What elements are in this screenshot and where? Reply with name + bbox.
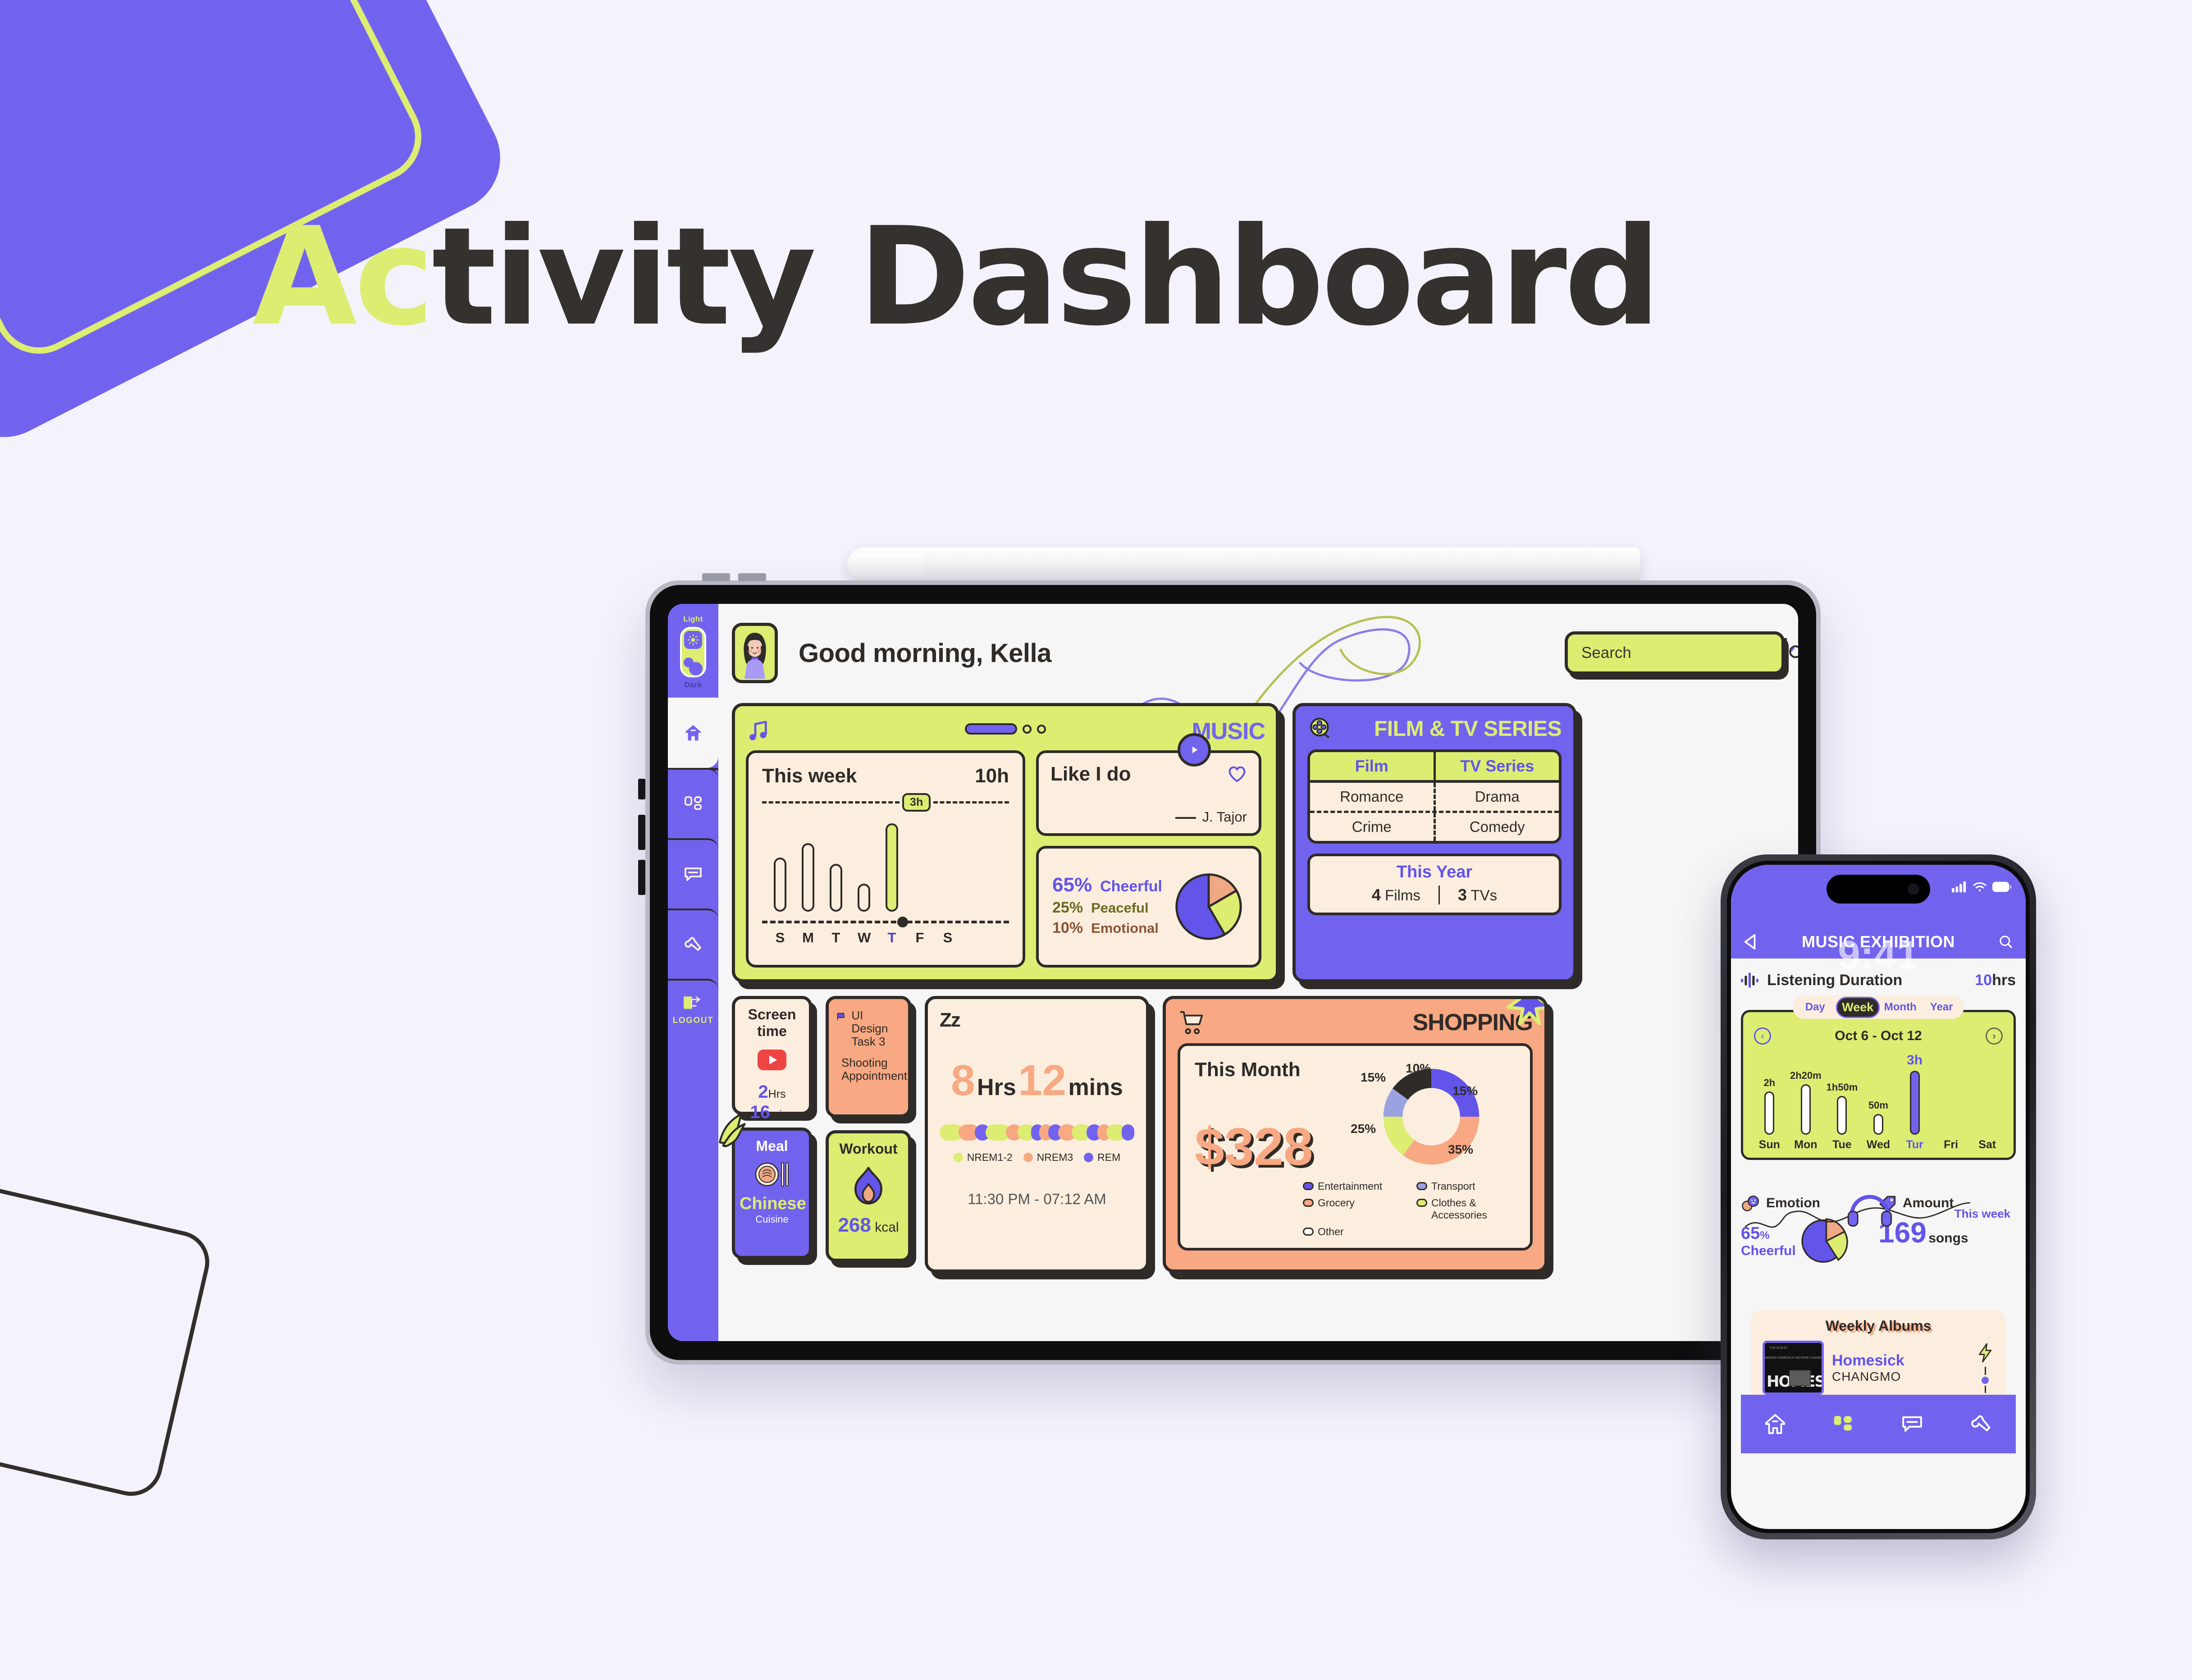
album-cover: THE ALBUM CHANGMO HOMESICK MIXTAPE CHANG… xyxy=(1763,1341,1824,1395)
day-label: Tue xyxy=(1828,1138,1856,1151)
table-row: Romance Drama xyxy=(1310,783,1559,811)
list-item[interactable]: Shooting Appointment xyxy=(836,1056,901,1082)
album-info: Homesick CHANGMO xyxy=(1832,1352,1904,1384)
emotion-pie-chart xyxy=(1172,868,1245,945)
dashboard-row-1: MUSIC This week 10h 3h xyxy=(732,703,1785,982)
mini-col-2: UI Design Task 3 Shooting Appointment xyxy=(826,996,911,1273)
weekly-albums-title: Weekly Albums xyxy=(1751,1318,2006,1334)
genre-col-film[interactable]: Film xyxy=(1310,752,1436,780)
sidebar-item-logout[interactable]: LOGOUT xyxy=(668,979,718,1049)
weekly-bars xyxy=(774,817,1009,912)
task-text: UI Design Task 3 xyxy=(851,1009,901,1048)
music-pager[interactable] xyxy=(965,723,1046,735)
weekly-day-labels: S M T W T F S xyxy=(774,930,1009,946)
sidebar-nav: LOGOUT xyxy=(668,698,718,1049)
pager-dot-2[interactable] xyxy=(1037,725,1046,734)
bar-thu xyxy=(886,823,898,912)
day-label: W xyxy=(858,930,870,946)
films-count: 4 Films xyxy=(1372,886,1420,904)
chart-date-range: Oct 6 - Oct 12 xyxy=(1835,1028,1922,1044)
emotion-label: Emotional xyxy=(1091,920,1159,936)
tablet-button-side-2 xyxy=(638,815,645,850)
screen-time-title: Screen time xyxy=(740,1006,804,1040)
threshold-badge: 3h xyxy=(902,793,931,812)
mini-col-1: Screen time 2Hrs 16mins xyxy=(732,996,812,1273)
tablet-button-top-1 xyxy=(702,573,730,581)
sleep-card[interactable]: Zz 8 Hrs 12 mins xyxy=(925,996,1149,1273)
song-title: Like I do xyxy=(1050,763,1247,785)
sleep-hours-unit: Hrs xyxy=(977,1074,1016,1100)
day-label: F xyxy=(913,930,926,946)
day-label: Mon xyxy=(1792,1138,1820,1151)
search-button[interactable] xyxy=(1787,643,1798,663)
emotion-row: 65% Cheerful xyxy=(1052,874,1162,896)
listening-chart: ‹ Oct 6 - Oct 12 › 2h 2h20m 1h50m 50m 3h xyxy=(1741,1010,2016,1160)
emotion-breakdown: 65% Cheerful 25% Peaceful 10 xyxy=(1036,846,1261,968)
weekly-albums-card[interactable]: Weekly Albums THE ALBUM CHANGMO HOMESICK… xyxy=(1751,1310,2006,1395)
stats-divider xyxy=(1438,886,1440,904)
youtube-icon xyxy=(758,1050,786,1070)
genre-cell: Crime xyxy=(1310,813,1436,841)
genre-col-tv[interactable]: TV Series xyxy=(1436,752,1559,780)
cart-icon xyxy=(1178,1009,1206,1036)
sleep-duration: 8 Hrs 12 mins xyxy=(940,1056,1134,1105)
shopping-period: This Month xyxy=(1195,1059,1348,1081)
genre-cell: Comedy xyxy=(1436,813,1559,841)
weekly-chart-total: 10h xyxy=(975,765,1009,787)
bar-col-tue: 1h50m xyxy=(1828,1082,1856,1135)
bar-col-sun: 2h xyxy=(1755,1077,1783,1135)
grid-icon xyxy=(683,794,703,814)
battery-icon xyxy=(1992,881,2011,892)
phone-clock: 9:41 xyxy=(1838,932,1919,979)
search-icon xyxy=(1787,643,1798,663)
phone-screen: MUSIC EXHIBITION 9:41 xyxy=(1731,865,2026,1529)
next-week-button[interactable]: › xyxy=(1986,1027,2003,1045)
heart-icon xyxy=(1227,765,1247,783)
screen-time-card[interactable]: Screen time 2Hrs 16mins xyxy=(732,996,812,1115)
moon-icon xyxy=(683,657,703,675)
film-reel-icon xyxy=(1307,716,1333,741)
this-week-label: This week xyxy=(1955,1207,2010,1221)
sidebar: Light Dark xyxy=(668,604,718,1341)
bolt-icon xyxy=(1976,1343,1994,1363)
this-year-box: This Year 4 Films 3 TVs xyxy=(1307,854,1562,915)
genre-cell: Drama xyxy=(1436,783,1559,811)
sleep-zzz-label: Zz xyxy=(940,1009,1134,1032)
phone-body: Listening Duration 10hrs Day Week Month … xyxy=(1731,959,2026,1529)
flame-icon xyxy=(852,1166,885,1205)
album-name: Homesick xyxy=(1832,1352,1904,1370)
shopping-card[interactable]: SHOPPING This Month $328 xyxy=(1163,996,1548,1273)
shopping-card-header: SHOPPING xyxy=(1178,1009,1533,1036)
page-title: Activity Dashboard xyxy=(252,198,1658,356)
meal-cuisine: Chinese xyxy=(740,1194,804,1214)
dashboard-row-2: Screen time 2Hrs 16mins xyxy=(732,996,1785,1273)
phone-tab-bar xyxy=(1741,1395,2016,1453)
bar-wed xyxy=(858,884,870,912)
workout-card[interactable]: Workout 268 kcal xyxy=(826,1130,911,1262)
bar-col-mon: 2h20m xyxy=(1792,1070,1820,1135)
tablet-screen: Light Dark xyxy=(668,604,1798,1341)
day-label: S xyxy=(774,930,786,946)
music-note-icon xyxy=(746,719,771,744)
album-artist: CHANGMO xyxy=(1832,1370,1904,1384)
phone-status-icons xyxy=(1952,881,2011,893)
emotion-pct: 25% xyxy=(1052,899,1083,917)
home-icon xyxy=(683,722,703,743)
genre-table-header: Film TV Series xyxy=(1310,752,1559,783)
emotion-label: Peaceful xyxy=(1091,900,1149,916)
list-item[interactable]: UI Design Task 3 xyxy=(836,1009,901,1048)
day-label-active: T xyxy=(886,930,898,946)
legend-item: NREM3 xyxy=(1023,1151,1073,1164)
tablet-button-top-2 xyxy=(738,573,766,581)
day-label-active: Tur xyxy=(1901,1138,1929,1151)
task-text: Shooting Appointment xyxy=(841,1056,907,1082)
bar-col-wed: 50m xyxy=(1864,1100,1892,1135)
page-title-accent: Ac xyxy=(252,198,432,356)
legend-item: Clothes & Accessories xyxy=(1416,1197,1507,1221)
wrench-icon[interactable] xyxy=(1968,1411,1994,1437)
chat-bubble-icon[interactable] xyxy=(1900,1411,1925,1437)
stylus-pencil xyxy=(847,548,1640,583)
phone-bezel: MUSIC EXHIBITION 9:41 xyxy=(1727,861,2030,1533)
shopping-right: 15% 10% 15% 35% 25% Entertainment Transp… xyxy=(1348,1059,1516,1235)
tablet-bezel: Light Dark xyxy=(650,585,1816,1360)
workout-value: 268 kcal xyxy=(833,1214,904,1237)
day-label: S xyxy=(941,930,954,946)
sleep-hours: 8 xyxy=(951,1056,975,1105)
wrench-icon xyxy=(682,934,704,955)
film-card-header: FILM & TV SERIES xyxy=(1307,716,1562,741)
emotion-row: 10% Emotional xyxy=(1052,919,1162,937)
genre-cell: Romance xyxy=(1310,783,1436,811)
song-artist: J. Tajor xyxy=(1175,809,1247,825)
emotion-pct: 65% xyxy=(1052,874,1092,896)
emotion-label: Cheerful xyxy=(1741,1243,1796,1259)
weekly-chart-header: This week 10h xyxy=(762,765,1009,787)
tasks-card[interactable]: UI Design Task 3 Shooting Appointment xyxy=(826,996,911,1118)
weekly-axis xyxy=(762,917,1009,927)
threshold-line: 3h xyxy=(762,795,1009,809)
leaf-decoration xyxy=(718,1101,761,1150)
phone-device: MUSIC EXHIBITION 9:41 xyxy=(1721,854,2036,1539)
period-segmented-control[interactable]: Day Week Month Year xyxy=(1793,995,1964,1019)
film-card-title: FILM & TV SERIES xyxy=(1374,717,1562,741)
meal-cuisine-sub: Cuisine xyxy=(740,1214,804,1225)
day-label: M xyxy=(802,930,814,946)
sidebar-item-tools[interactable] xyxy=(668,908,718,979)
sleep-legend: NREM1-2 NREM3 REM xyxy=(940,1151,1134,1164)
music-right-column: Like I do J. Tajor xyxy=(1036,750,1261,968)
sleep-mins: 12 xyxy=(1018,1056,1066,1105)
avatar[interactable] xyxy=(732,623,778,683)
grid-icon[interactable] xyxy=(1831,1412,1855,1436)
legend-item: NREM1-2 xyxy=(954,1151,1013,1164)
wifi-icon xyxy=(1973,881,1987,893)
play-icon xyxy=(1188,744,1200,756)
album-energy-meter xyxy=(1976,1343,1994,1393)
tablet-button-side-1 xyxy=(638,779,645,799)
topbar: Good morning, Kella xyxy=(732,616,1785,689)
search-bar[interactable] xyxy=(1565,631,1785,675)
logout-label: LOGOUT xyxy=(673,1016,714,1026)
phone-stats-section: This week Emotion xyxy=(1741,1195,2016,1308)
chart-date-nav: ‹ Oct 6 - Oct 12 › xyxy=(1751,1027,2005,1045)
theme-dark-label: Dark xyxy=(684,680,702,689)
flag-icon xyxy=(836,1009,846,1024)
favorite-button[interactable] xyxy=(1227,765,1247,785)
axis-active-dot xyxy=(897,917,908,927)
phone-app-bar: MUSIC EXHIBITION 9:41 xyxy=(1731,865,2026,959)
segment-year[interactable]: Year xyxy=(1921,1001,1963,1013)
emotion-row: 25% Peaceful xyxy=(1052,899,1162,917)
dashboard-main: Good morning, Kella xyxy=(718,604,1798,1341)
sidebar-item-apps[interactable] xyxy=(668,768,718,838)
workout-title: Workout xyxy=(833,1141,904,1157)
decor-dark-outline-rect xyxy=(0,1166,215,1502)
table-row: Crime Comedy xyxy=(1310,811,1559,841)
chat-bubble-icon xyxy=(682,863,704,885)
chart-day-labels: SunMonTue WedTur FriSat xyxy=(1751,1138,2005,1151)
page-title-rest: tivity Dashboard xyxy=(432,198,1658,356)
shopping-amount: $328 xyxy=(1195,1116,1348,1178)
legend-item: Grocery xyxy=(1303,1197,1407,1221)
sun-icon xyxy=(684,631,702,649)
sleep-time-range: 11:30 PM - 07:12 AM xyxy=(940,1191,1134,1208)
tablet-device: Light Dark xyxy=(645,580,1821,1365)
film-tv-card[interactable]: FILM & TV SERIES Film TV Series Romance … xyxy=(1292,703,1576,982)
day-label: Wed xyxy=(1864,1138,1892,1151)
day-label: Sun xyxy=(1755,1138,1783,1151)
bar-col-tur: 3h xyxy=(1901,1053,1929,1135)
tablet-button-side-3 xyxy=(638,860,645,895)
sleep-mins-unit: mins xyxy=(1068,1074,1123,1100)
day-label: T xyxy=(830,930,842,946)
legend-item: REM xyxy=(1084,1151,1120,1164)
play-button[interactable] xyxy=(1178,733,1211,767)
legend-item: Other xyxy=(1303,1226,1375,1238)
bar-tue xyxy=(830,864,842,912)
emotion-pct: 10% xyxy=(1052,919,1083,937)
this-year-stats: 4 Films 3 TVs xyxy=(1310,886,1559,904)
sidebar-item-home[interactable] xyxy=(668,698,718,768)
rice-bowl-icon xyxy=(753,1162,791,1187)
segment-week[interactable]: Week xyxy=(1836,997,1880,1018)
legend-item: Transport xyxy=(1416,1180,1507,1192)
emotion-rows: 65% Cheerful 25% Peaceful 10 xyxy=(1052,874,1162,940)
now-playing-card[interactable]: Like I do J. Tajor xyxy=(1036,750,1261,836)
weekly-listening-chart: This week 10h 3h xyxy=(746,750,1025,968)
phone-notch xyxy=(1827,875,1930,904)
theme-light-label: Light xyxy=(683,615,703,624)
emotion-label: Cheerful xyxy=(1100,878,1162,895)
chart-bars: 2h 2h20m 1h50m 50m 3h xyxy=(1751,1049,2005,1135)
star-decoration xyxy=(1505,996,1548,1027)
meal-card[interactable]: Meal Chinese xyxy=(732,1128,812,1259)
listening-duration-value: 10hrs xyxy=(1975,972,2016,989)
logout-icon xyxy=(682,994,704,1012)
shopping-legend: Entertainment Transport Grocery Clothes … xyxy=(1303,1180,1537,1238)
list-item[interactable]: THE ALBUM CHANGMO HOMESICK MIXTAPE CHANG… xyxy=(1751,1334,2006,1395)
legend-item: Entertainment xyxy=(1303,1180,1407,1192)
sleep-stage-bar xyxy=(940,1124,1134,1141)
cellular-icon xyxy=(1952,881,1967,893)
day-label: Sat xyxy=(1973,1138,2001,1151)
waveform-icon xyxy=(1741,971,1761,989)
sidebar-item-messages[interactable] xyxy=(668,838,718,908)
day-label: Fri xyxy=(1937,1138,1965,1151)
greeting-text: Good morning, Kella xyxy=(799,638,1051,668)
search-input[interactable] xyxy=(1568,644,1785,662)
theme-toggle-pill[interactable] xyxy=(680,627,706,677)
bar-mon xyxy=(802,843,814,912)
pager-active-bar[interactable] xyxy=(965,723,1017,735)
pager-dot-1[interactable] xyxy=(1023,725,1032,734)
tvs-count: 3 TVs xyxy=(1458,886,1497,904)
segment-month[interactable]: Month xyxy=(1880,1001,1921,1013)
home-icon[interactable] xyxy=(1763,1412,1787,1436)
segment-day[interactable]: Day xyxy=(1795,1001,1836,1013)
prev-week-button[interactable]: ‹ xyxy=(1754,1027,1771,1045)
music-card-body: This week 10h 3h xyxy=(746,750,1265,968)
shopping-summary: This Month $328 xyxy=(1178,1043,1533,1251)
music-card[interactable]: MUSIC This week 10h 3h xyxy=(732,703,1279,982)
theme-toggle[interactable]: Light Dark xyxy=(680,615,706,689)
genre-table: Film TV Series Romance Drama Crime Comed… xyxy=(1307,749,1562,844)
this-year-title: This Year xyxy=(1310,863,1559,882)
weekly-chart-label: This week xyxy=(762,765,857,787)
avatar-illustration xyxy=(735,626,775,680)
bar-sun xyxy=(774,858,786,912)
